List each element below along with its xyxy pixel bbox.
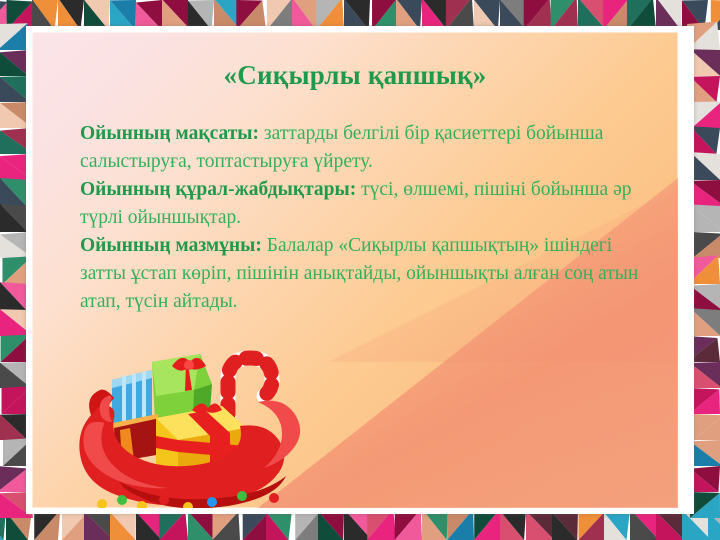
paragraph-content: Ойынның мазмұны: Балалар «Сиқырлы қапшық… [80, 232, 640, 316]
slide-body-text: Ойынның мақсаты: заттарды белгілі бір қа… [80, 120, 640, 316]
slide-title: «Сиқырлы қапшық» [32, 60, 678, 91]
paragraph-content-lead: Ойынның мазмұны: [80, 235, 262, 256]
paragraph-equipment: Ойынның құрал-жабдықтары: түсі, өлшемі, … [80, 176, 640, 232]
slide-canvas: «Сиқырлы қапшық» Ойынның мақсаты: заттар… [0, 0, 720, 540]
paragraph-goal: Ойынның мақсаты: заттарды белгілі бір қа… [80, 120, 640, 176]
santa-gift-sack-icon [60, 332, 340, 508]
content-panel: «Сиқырлы қапшық» Ойынның мақсаты: заттар… [32, 32, 678, 508]
paragraph-goal-lead: Ойынның мақсаты: [80, 123, 259, 144]
paragraph-equipment-lead: Ойынның құрал-жабдықтары: [80, 179, 356, 200]
